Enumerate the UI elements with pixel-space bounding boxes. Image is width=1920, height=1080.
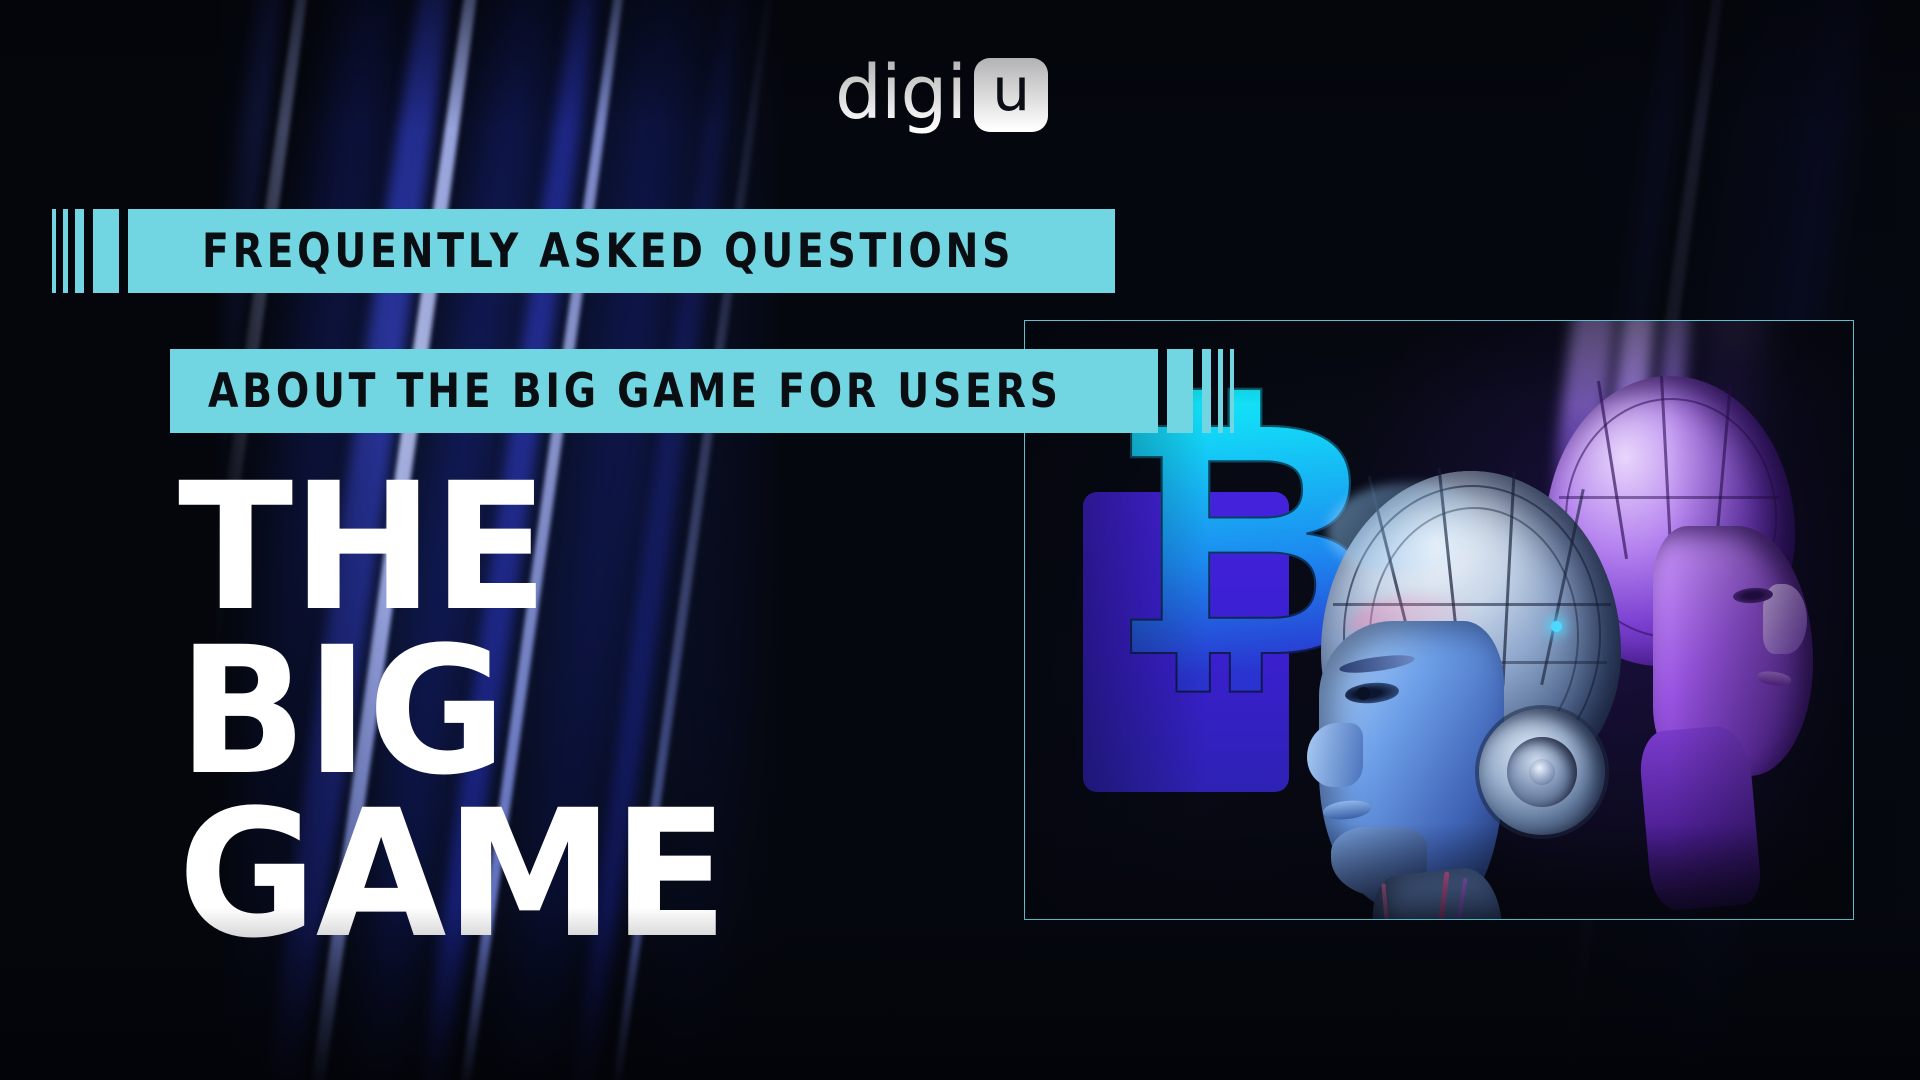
banner-faq-label: FREQUENTLY ASKED QUESTIONS [202, 228, 1014, 275]
brand-logo-wordmark: digi [835, 56, 966, 130]
brand-logo[interactable]: digi u [835, 58, 1048, 132]
banner-deco-bar [1230, 349, 1234, 433]
banner-subject: ABOUT THE BIG GAME FOR USERS [170, 349, 1234, 433]
headline-line-3: GAME [178, 793, 727, 957]
banner-deco-bar [1167, 349, 1193, 433]
headline: THE BIG GAME [178, 466, 750, 957]
front-head-rim-light [1327, 483, 1477, 573]
front-head-led [1551, 621, 1562, 632]
banner-deco-bar [1202, 349, 1211, 433]
brand-logo-badge: u [974, 58, 1048, 132]
front-head-nose [1307, 723, 1363, 787]
banner-subject-label: ABOUT THE BIG GAME FOR USERS [208, 368, 1062, 415]
front-head-pupil [1357, 687, 1370, 700]
headline-line-1: THE [178, 466, 727, 630]
brand-logo-badge-letter: u [992, 60, 1030, 120]
banner-subject-block: ABOUT THE BIG GAME FOR USERS [170, 349, 1158, 433]
banner-deco-bar [75, 209, 84, 293]
headline-line-2: BIG [178, 630, 727, 794]
android-head-front [1283, 471, 1673, 919]
poster-canvas: digi u FREQUENTLY ASKED QUESTIONS ABOUT … [0, 0, 1920, 1080]
banner-deco-bar [93, 209, 119, 293]
banner-faq-block: FREQUENTLY ASKED QUESTIONS [128, 209, 1115, 293]
front-head-ear-core [1529, 759, 1555, 785]
banner-faq: FREQUENTLY ASKED QUESTIONS [52, 209, 1115, 293]
